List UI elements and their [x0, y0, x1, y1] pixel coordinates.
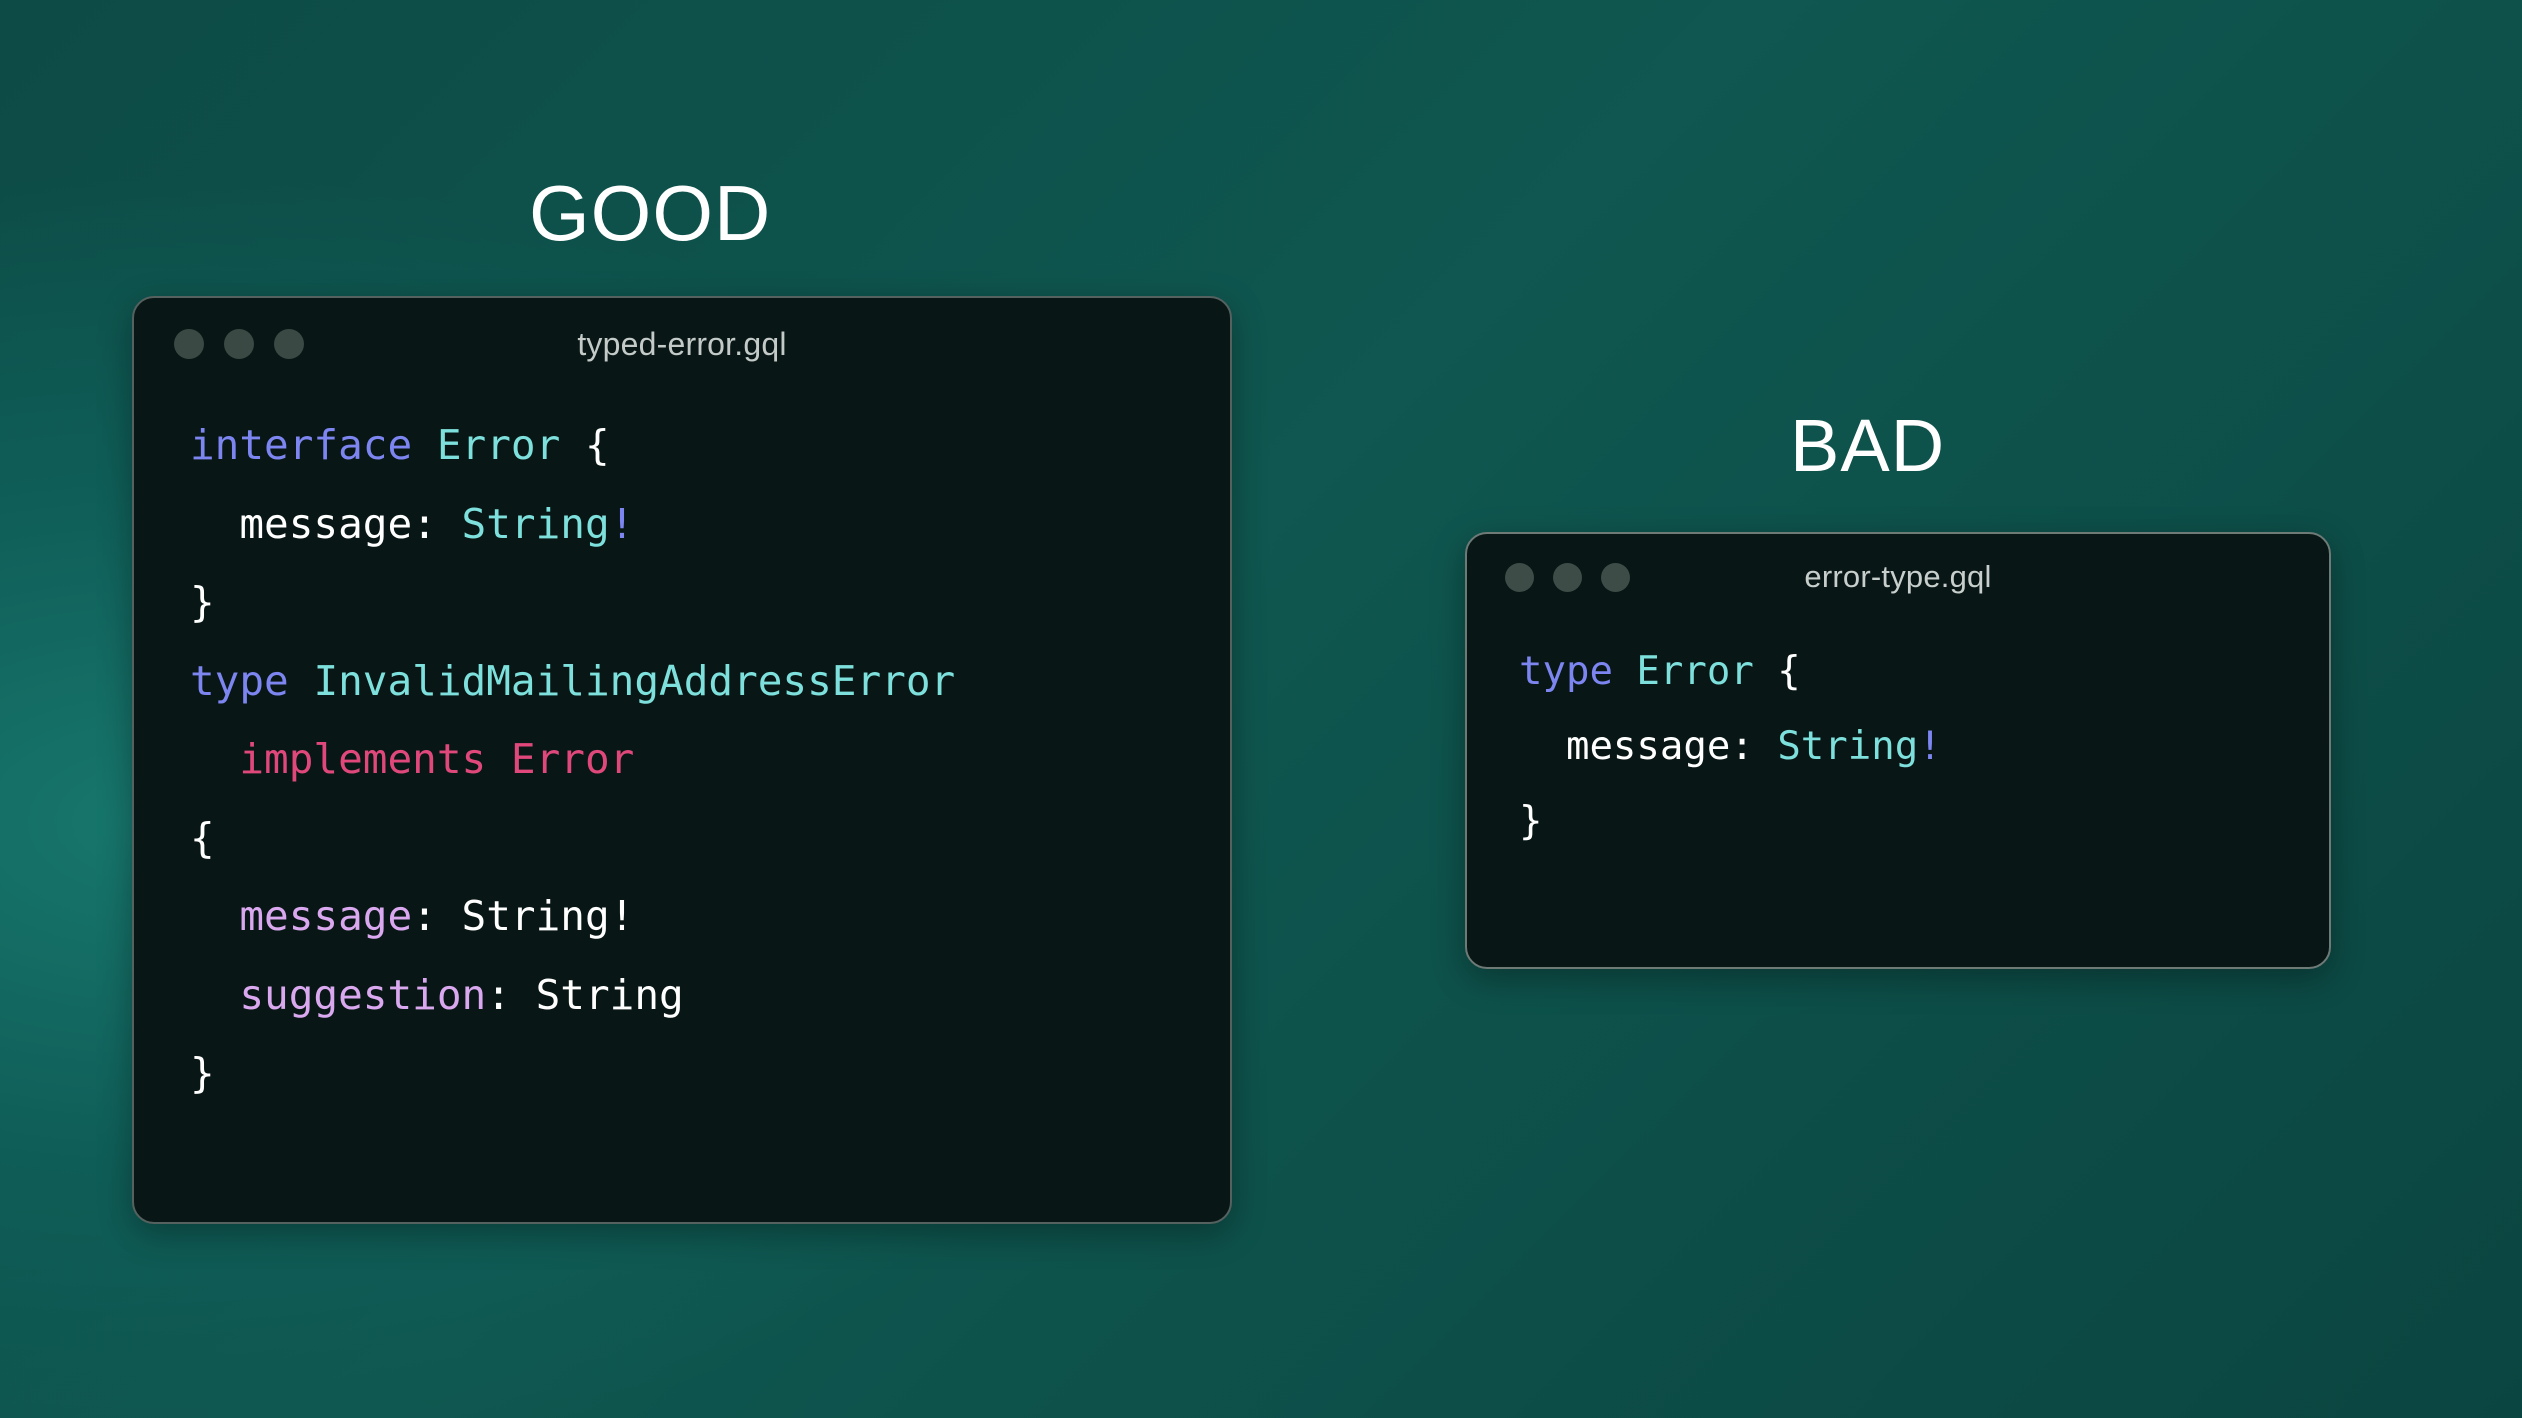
code-token-field: message — [239, 500, 412, 548]
code-token-indent — [190, 735, 239, 783]
code-token-punct: : — [1730, 724, 1777, 769]
code-token-indent — [190, 500, 239, 548]
code-line: } — [190, 563, 1230, 642]
code-token-brace: { — [190, 814, 215, 862]
code-token-brace: } — [1519, 799, 1542, 844]
titlebar-good: typed-error.gql — [134, 298, 1230, 390]
maximize-dot-icon[interactable] — [1601, 563, 1630, 592]
heading-bad: BAD — [1790, 403, 1945, 488]
traffic-lights-good — [174, 329, 304, 359]
code-block-good: interface Error { message: String! } typ… — [134, 390, 1230, 1113]
code-token-brace: } — [190, 578, 215, 626]
code-token-indent — [1519, 724, 1566, 769]
minimize-dot-icon[interactable] — [224, 329, 254, 359]
code-line: implements Error — [190, 720, 1230, 799]
code-block-bad: type Error { message: String! } — [1467, 620, 2329, 859]
comparison-stage: GOOD typed-error.gql interface Error { m… — [0, 0, 2522, 1418]
code-token-brace: { — [1777, 649, 1800, 694]
code-token-punct: : — [412, 500, 461, 548]
titlebar-bad: error-type.gql — [1467, 534, 2329, 620]
maximize-dot-icon[interactable] — [274, 329, 304, 359]
code-line: type InvalidMailingAddressError — [190, 642, 1230, 721]
code-token-keyword: type — [1519, 649, 1613, 694]
code-token-non-null: ! — [610, 500, 635, 548]
minimize-dot-icon[interactable] — [1553, 563, 1582, 592]
code-token-keyword: type — [190, 657, 289, 705]
code-token-type-name: String — [1777, 724, 1918, 769]
code-token-field: message — [239, 892, 412, 940]
close-dot-icon[interactable] — [1505, 563, 1534, 592]
code-token-space — [1754, 649, 1777, 694]
code-token-space — [289, 657, 314, 705]
code-token-brace: } — [190, 1049, 215, 1097]
code-token-space — [412, 421, 437, 469]
code-token-type-name: InvalidMailingAddressError — [313, 657, 955, 705]
code-window-good: typed-error.gql interface Error { messag… — [132, 296, 1232, 1224]
code-token-type-name: String — [536, 971, 684, 1019]
code-token-punct: : — [412, 892, 461, 940]
code-token-indent — [190, 971, 239, 1019]
close-dot-icon[interactable] — [174, 329, 204, 359]
code-line: interface Error { — [190, 406, 1230, 485]
code-token-type-name: String — [462, 500, 610, 548]
code-token-brace: { — [585, 421, 610, 469]
code-line: } — [1519, 784, 2329, 859]
code-token-type-name: String! — [462, 892, 635, 940]
code-token-field: suggestion — [239, 971, 486, 1019]
code-token-keyword: interface — [190, 421, 412, 469]
code-line: suggestion: String — [190, 956, 1230, 1035]
code-token-implements: implements Error — [239, 735, 634, 783]
code-token-indent — [190, 892, 239, 940]
code-line: message: String! — [190, 485, 1230, 564]
code-token-type-name: Error — [1636, 649, 1753, 694]
code-line: type Error { — [1519, 634, 2329, 709]
code-line: } — [190, 1034, 1230, 1113]
code-line: { — [190, 799, 1230, 878]
code-token-punct: : — [486, 971, 535, 1019]
code-token-space — [560, 421, 585, 469]
code-token-space — [1613, 649, 1636, 694]
code-token-field: message — [1566, 724, 1730, 769]
traffic-lights-bad — [1505, 563, 1630, 592]
code-line: message: String! — [1519, 709, 2329, 784]
code-window-bad: error-type.gql type Error { message: Str… — [1465, 532, 2331, 969]
heading-good: GOOD — [529, 168, 771, 259]
code-token-type-name: Error — [437, 421, 560, 469]
code-line: message: String! — [190, 877, 1230, 956]
code-token-non-null: ! — [1918, 724, 1941, 769]
